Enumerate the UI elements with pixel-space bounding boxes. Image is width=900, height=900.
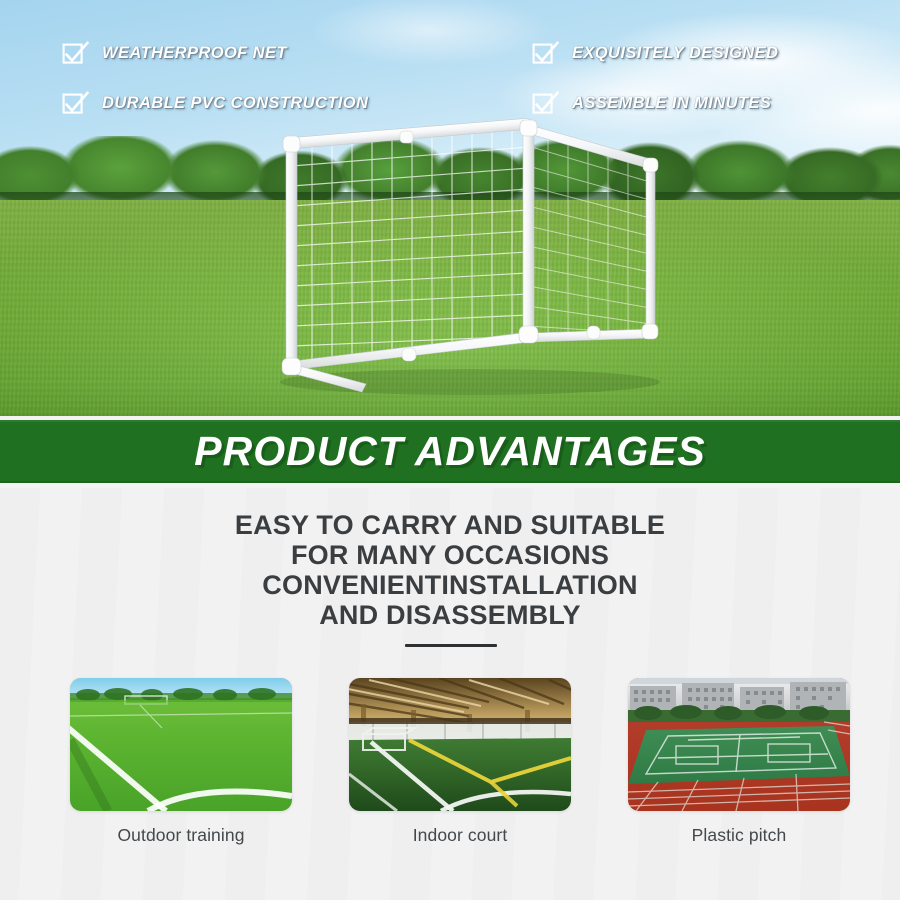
- checkbox-checked-icon: [62, 41, 89, 66]
- banner-title: PRODUCT ADVANTAGES: [194, 428, 706, 475]
- goal-net-front: [292, 126, 528, 368]
- description-text: EASY TO CARRY AND SUITABLE FOR MANY OCCA…: [0, 510, 900, 630]
- feature-item-durable-pvc-construction: DURABLE PVC CONSTRUCTION: [62, 78, 532, 128]
- description-line: FOR MANY OCCASIONS: [0, 540, 900, 570]
- feature-label: WEATHERPROOF NET: [102, 44, 287, 63]
- scenario-card-outdoor-training: Outdoor training: [70, 678, 292, 854]
- scenario-card-plastic-pitch: Plastic pitch: [628, 678, 850, 854]
- product-advantages-infographic: WEATHERPROOF NET EXQUISITELY DESIGNED: [0, 0, 900, 900]
- description-line: AND DISASSEMBLY: [0, 600, 900, 630]
- feature-label: DURABLE PVC CONSTRUCTION: [102, 94, 368, 113]
- description-line: CONVENIENTINSTALLATION: [0, 570, 900, 600]
- feature-checklist: WEATHERPROOF NET EXQUISITELY DESIGNED: [0, 28, 900, 128]
- product-advantages-banner: PRODUCT ADVANTAGES: [0, 420, 900, 483]
- scenario-card-indoor-court: Indoor court: [349, 678, 571, 854]
- checkbox-checked-icon: [532, 91, 559, 116]
- divider-rule: [405, 644, 497, 647]
- feature-item-assemble-in-minutes: ASSEMBLE IN MINUTES: [532, 78, 900, 128]
- feature-item-exquisitely-designed: EXQUISITELY DESIGNED: [532, 28, 900, 78]
- scenario-caption: Plastic pitch: [628, 825, 850, 846]
- section-banner-wrapper: PRODUCT ADVANTAGES: [0, 416, 900, 488]
- feature-item-weatherproof-net: WEATHERPROOF NET: [62, 28, 532, 78]
- scenario-thumbnail-outdoor-training: [70, 678, 292, 811]
- feature-label: EXQUISITELY DESIGNED: [572, 44, 778, 63]
- soccer-goal-product: [230, 120, 690, 410]
- advantages-section: EASY TO CARRY AND SUITABLE FOR MANY OCCA…: [0, 488, 900, 900]
- feature-label: ASSEMBLE IN MINUTES: [572, 94, 771, 113]
- scenario-thumbnail-plastic-pitch: [628, 678, 850, 811]
- scenario-caption: Indoor court: [349, 825, 571, 846]
- checkbox-checked-icon: [62, 91, 89, 116]
- checkbox-checked-icon: [532, 41, 559, 66]
- usage-scenario-gallery: Outdoor training: [70, 678, 850, 854]
- scenario-caption: Outdoor training: [70, 825, 292, 846]
- scenario-thumbnail-indoor-court: [349, 678, 571, 811]
- description-line: EASY TO CARRY AND SUITABLE: [0, 510, 900, 540]
- hero-product-photo: WEATHERPROOF NET EXQUISITELY DESIGNED: [0, 0, 900, 416]
